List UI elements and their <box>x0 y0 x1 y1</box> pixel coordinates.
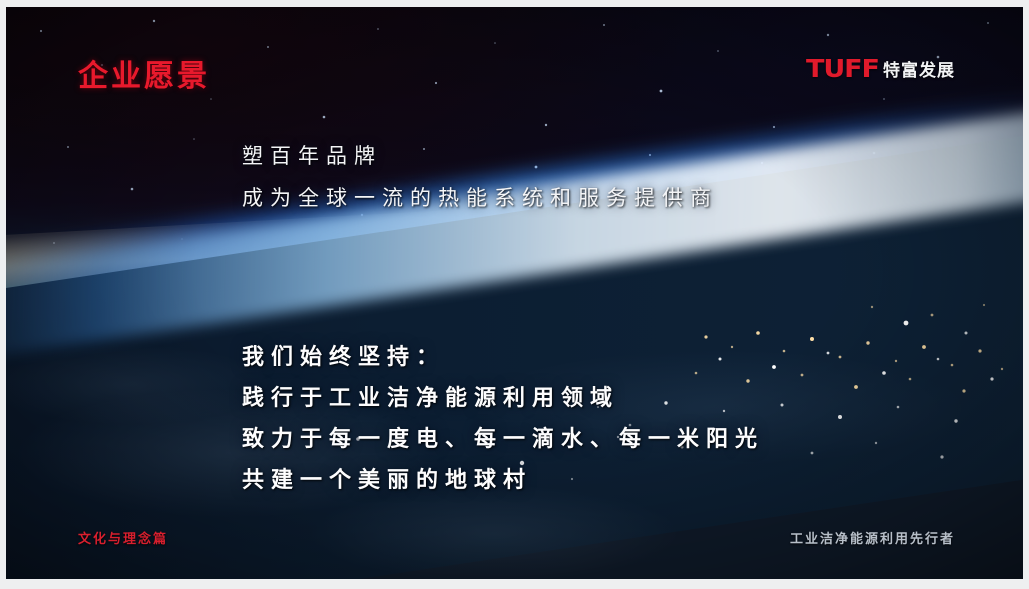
vision-line: 塑百年品牌 <box>242 135 718 177</box>
vision-line: 成为全球一流的热能系统和服务提供商 <box>242 177 718 219</box>
brand-name-label: 特富发展 <box>883 56 955 81</box>
page-title: 企业愿景 <box>78 51 210 95</box>
commitment-line: 致力于每一度电、每一滴水、每一米阳光 <box>242 419 764 460</box>
brand-logo: TUFF 特富发展 <box>806 54 955 83</box>
commitment-statement-block: 我们始终坚持： 践行于工业洁净能源利用领域 致力于每一度电、每一滴水、每一米阳光… <box>242 337 764 501</box>
commitment-line: 共建一个美丽的地球村 <box>242 460 764 501</box>
tuff-wordmark-icon: TUFF <box>806 54 879 83</box>
slide-frame: 企业愿景 TUFF 特富发展 塑百年品牌 成为全球一流的热能系统和服务提供商 我… <box>0 0 1029 589</box>
commitment-line: 我们始终坚持： <box>242 337 764 378</box>
slide-content: 企业愿景 TUFF 特富发展 塑百年品牌 成为全球一流的热能系统和服务提供商 我… <box>6 7 1023 579</box>
vision-statement-block: 塑百年品牌 成为全球一流的热能系统和服务提供商 <box>242 135 718 219</box>
footer-section-label: 文化与理念篇 <box>78 528 168 547</box>
commitment-line: 践行于工业洁净能源利用领域 <box>242 378 764 419</box>
footer-tagline: 工业洁净能源利用先行者 <box>790 528 955 547</box>
presentation-slide: 企业愿景 TUFF 特富发展 塑百年品牌 成为全球一流的热能系统和服务提供商 我… <box>6 7 1023 579</box>
